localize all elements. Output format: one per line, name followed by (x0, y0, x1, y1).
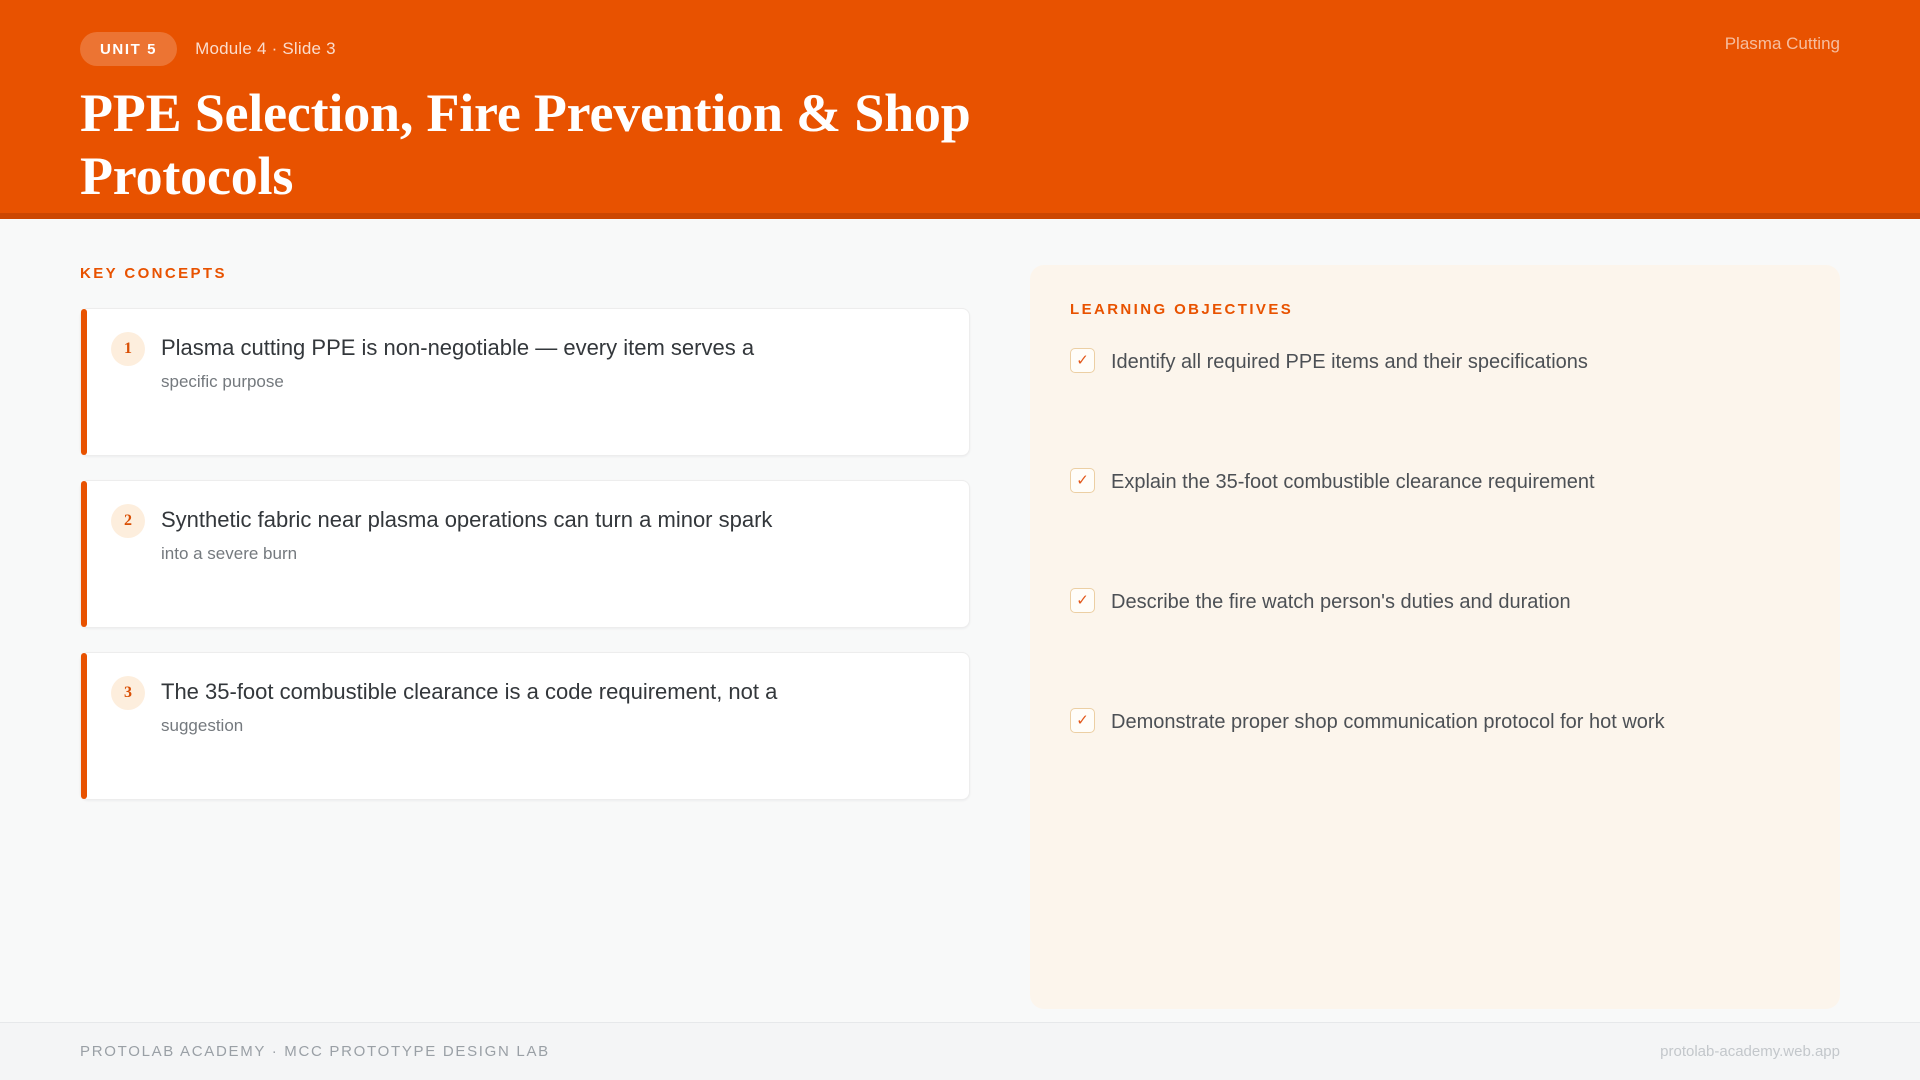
key-concepts-list: 1 Plasma cutting PPE is non-negotiable —… (80, 308, 970, 800)
slide-root: UNIT 5 Module 4 · Slide 3 Plasma Cutting… (0, 0, 1920, 1080)
slide-footer: PROTOLAB ACADEMY · MCC PROTOTYPE DESIGN … (0, 1022, 1920, 1080)
concept-card[interactable]: 3 The 35-foot combustible clearance is a… (80, 652, 970, 800)
header-topic-label: Plasma Cutting (1725, 34, 1840, 54)
slide-body: KEY CONCEPTS 1 Plasma cutting PPE is non… (0, 219, 1920, 1022)
concept-subtext: into a severe burn (161, 542, 772, 566)
objective-text: Demonstrate proper shop communication pr… (1111, 708, 1665, 735)
objective-row[interactable]: ✓ Explain the 35-foot combustible cleara… (1070, 468, 1800, 588)
header-meta-row: UNIT 5 Module 4 · Slide 3 (80, 30, 1840, 68)
checkmark-icon[interactable]: ✓ (1070, 348, 1095, 373)
concept-body: The 35-foot combustible clearance is a c… (161, 675, 777, 737)
concept-body: Plasma cutting PPE is non-negotiable — e… (161, 331, 754, 393)
concept-subtext: specific purpose (161, 370, 754, 394)
concept-subtext: suggestion (161, 714, 777, 738)
objective-row[interactable]: ✓ Identify all required PPE items and th… (1070, 348, 1800, 468)
learning-objectives-list: ✓ Identify all required PPE items and th… (1070, 348, 1800, 828)
concept-heading: Plasma cutting PPE is non-negotiable — e… (161, 333, 754, 363)
concept-card[interactable]: 1 Plasma cutting PPE is non-negotiable —… (80, 308, 970, 456)
key-concepts-label: KEY CONCEPTS (80, 265, 970, 282)
learning-objectives-section: LEARNING OBJECTIVES ✓ Identify all requi… (1030, 265, 1840, 1022)
footer-organization: PROTOLAB ACADEMY · MCC PROTOTYPE DESIGN … (80, 1043, 550, 1060)
learning-objectives-panel: LEARNING OBJECTIVES ✓ Identify all requi… (1030, 265, 1840, 1009)
key-concepts-section: KEY CONCEPTS 1 Plasma cutting PPE is non… (80, 265, 970, 1022)
objective-text: Explain the 35-foot combustible clearanc… (1111, 468, 1595, 495)
concept-heading: Synthetic fabric near plasma operations … (161, 505, 772, 535)
concept-number-badge: 3 (111, 676, 145, 710)
checkmark-icon[interactable]: ✓ (1070, 588, 1095, 613)
slide-header: UNIT 5 Module 4 · Slide 3 Plasma Cutting… (0, 0, 1920, 219)
unit-badge: UNIT 5 (80, 32, 177, 66)
concept-number-badge: 2 (111, 504, 145, 538)
objective-row[interactable]: ✓ Demonstrate proper shop communication … (1070, 708, 1800, 828)
concept-heading: The 35-foot combustible clearance is a c… (161, 677, 777, 707)
breadcrumb: Module 4 · Slide 3 (195, 39, 336, 59)
concept-card[interactable]: 2 Synthetic fabric near plasma operation… (80, 480, 970, 628)
objective-text: Identify all required PPE items and thei… (1111, 348, 1588, 375)
checkmark-icon[interactable]: ✓ (1070, 708, 1095, 733)
learning-objectives-label: LEARNING OBJECTIVES (1070, 301, 1800, 318)
concept-number-badge: 1 (111, 332, 145, 366)
concept-body: Synthetic fabric near plasma operations … (161, 503, 772, 565)
objective-row[interactable]: ✓ Describe the fire watch person's dutie… (1070, 588, 1800, 708)
page-title: PPE Selection, Fire Prevention & Shop Pr… (80, 82, 1080, 207)
footer-url: protolab-academy.web.app (1660, 1043, 1840, 1060)
objective-text: Describe the fire watch person's duties … (1111, 588, 1571, 615)
checkmark-icon[interactable]: ✓ (1070, 468, 1095, 493)
